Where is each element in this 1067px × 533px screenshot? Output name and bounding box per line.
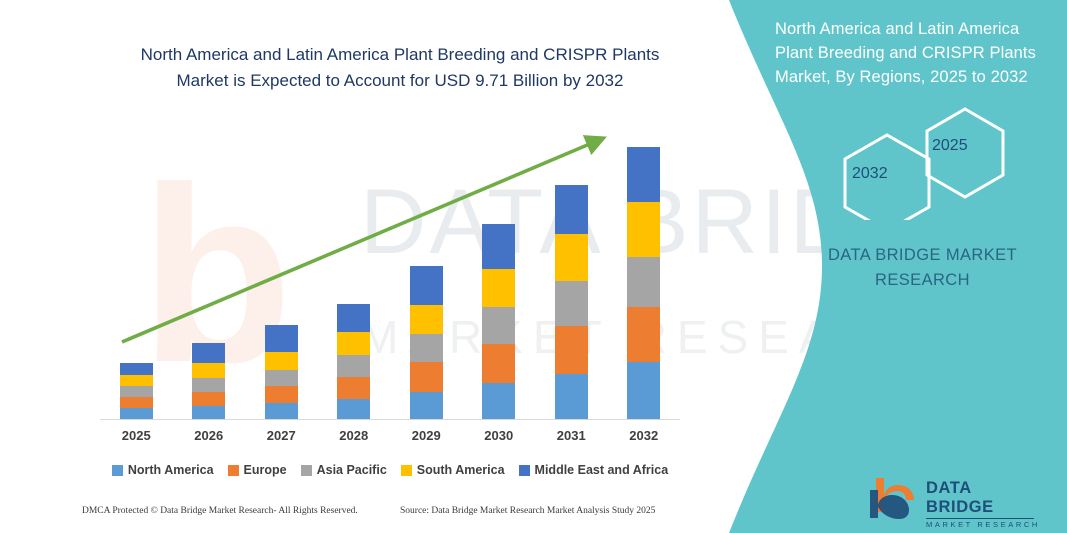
- bar-segment: [627, 362, 660, 419]
- x-axis-labels: 20252026202720282029203020312032: [100, 428, 680, 448]
- footer-copyright: DMCA Protected © Data Bridge Market Rese…: [82, 506, 358, 516]
- chart-legend: North AmericaEuropeAsia PacificSouth Ame…: [100, 459, 680, 481]
- bar-segment: [337, 399, 370, 419]
- bar-segment: [120, 375, 153, 386]
- bar-segment: [265, 325, 298, 352]
- logo-mark-icon: [868, 476, 924, 520]
- bar-segment: [482, 344, 515, 383]
- x-label-2025: 2025: [106, 428, 166, 443]
- bar-segment: [627, 307, 660, 362]
- bar-segment: [627, 257, 660, 307]
- data-bridge-logo: DATA BRIDGE MARKET RESEARCH: [868, 476, 1043, 520]
- bar-segment: [337, 332, 370, 355]
- chart-plot-area: [100, 130, 680, 420]
- bar-segment: [410, 334, 443, 362]
- logo-divider: [926, 518, 1034, 519]
- bar-2026[interactable]: [192, 343, 225, 419]
- panel-brand-line2: RESEARCH: [875, 271, 970, 289]
- bar-2025[interactable]: [120, 363, 153, 419]
- bar-segment: [555, 185, 588, 234]
- legend-label: Middle East and Africa: [535, 463, 669, 477]
- x-label-2031: 2031: [541, 428, 601, 443]
- bar-2028[interactable]: [337, 304, 370, 419]
- legend-item-south-america[interactable]: South America: [401, 463, 505, 477]
- hexagon-outlines: [815, 105, 1065, 220]
- bar-segment: [337, 355, 370, 377]
- bar-segment: [265, 370, 298, 386]
- bar-segment: [192, 406, 225, 419]
- footer: DMCA Protected © Data Bridge Market Rese…: [0, 506, 712, 528]
- legend-swatch: [519, 465, 530, 476]
- bar-segment: [555, 234, 588, 281]
- bar-segment: [120, 408, 153, 419]
- bar-segment: [482, 224, 515, 269]
- bar-segment: [482, 307, 515, 344]
- x-label-2032: 2032: [614, 428, 674, 443]
- bar-2030[interactable]: [482, 224, 515, 419]
- logo-text-block: DATA BRIDGE MARKET RESEARCH: [926, 479, 1043, 529]
- legend-item-europe[interactable]: Europe: [228, 463, 287, 477]
- x-label-2030: 2030: [469, 428, 529, 443]
- bar-segment: [120, 386, 153, 397]
- bar-segment: [410, 392, 443, 419]
- bar-segment: [120, 397, 153, 408]
- bar-segment: [410, 305, 443, 334]
- bar-segment: [265, 386, 298, 403]
- logo-subtitle: MARKET RESEARCH: [926, 520, 1043, 529]
- bar-2029[interactable]: [410, 266, 443, 419]
- bar-segment: [555, 281, 588, 326]
- logo-title: DATA BRIDGE: [926, 479, 1043, 517]
- bar-segment: [192, 378, 225, 392]
- bar-2027[interactable]: [265, 325, 298, 419]
- bar-segment: [627, 202, 660, 257]
- bar-segment: [410, 266, 443, 305]
- legend-item-middle-east-and-africa[interactable]: Middle East and Africa: [519, 463, 669, 477]
- legend-swatch: [301, 465, 312, 476]
- bar-segment: [410, 362, 443, 392]
- x-axis-line: [100, 419, 680, 420]
- bar-segment: [120, 363, 153, 375]
- legend-swatch: [228, 465, 239, 476]
- x-label-2029: 2029: [396, 428, 456, 443]
- legend-item-north-america[interactable]: North America: [112, 463, 214, 477]
- infographic-root: b DATA BRIDGE MARKET RESEARCH North Amer…: [0, 0, 1067, 533]
- legend-label: South America: [417, 463, 505, 477]
- chart-title: North America and Latin America Plant Br…: [120, 42, 680, 94]
- bar-segment: [265, 352, 298, 370]
- growth-trend-arrow: [100, 130, 680, 420]
- bar-segment: [555, 374, 588, 419]
- legend-swatch: [401, 465, 412, 476]
- footer-source: Source: Data Bridge Market Research Mark…: [400, 506, 655, 516]
- x-label-2028: 2028: [324, 428, 384, 443]
- bar-segment: [555, 326, 588, 374]
- bar-segment: [337, 304, 370, 332]
- legend-item-asia-pacific[interactable]: Asia Pacific: [301, 463, 387, 477]
- bar-segment: [192, 343, 225, 363]
- legend-label: North America: [128, 463, 214, 477]
- legend-label: Asia Pacific: [317, 463, 387, 477]
- hexagon-2025-label: 2025: [932, 137, 968, 155]
- panel-title: North America and Latin America Plant Br…: [775, 18, 1060, 90]
- hexagon-badges: 2025 2032: [815, 105, 1065, 220]
- bar-segment: [482, 383, 515, 419]
- bar-2032[interactable]: [627, 147, 660, 419]
- hexagon-2032-label: 2032: [852, 165, 888, 183]
- bar-2031[interactable]: [555, 185, 588, 419]
- x-label-2026: 2026: [179, 428, 239, 443]
- bar-segment: [482, 269, 515, 307]
- x-label-2027: 2027: [251, 428, 311, 443]
- panel-brand: DATA BRIDGE MARKET RESEARCH: [790, 243, 1055, 293]
- bar-segment: [192, 363, 225, 378]
- panel-brand-line1: DATA BRIDGE MARKET: [828, 246, 1017, 264]
- legend-label: Europe: [244, 463, 287, 477]
- bar-segment: [192, 392, 225, 406]
- bar-segment: [337, 377, 370, 399]
- bar-segment: [627, 147, 660, 202]
- legend-swatch: [112, 465, 123, 476]
- bar-segment: [265, 403, 298, 419]
